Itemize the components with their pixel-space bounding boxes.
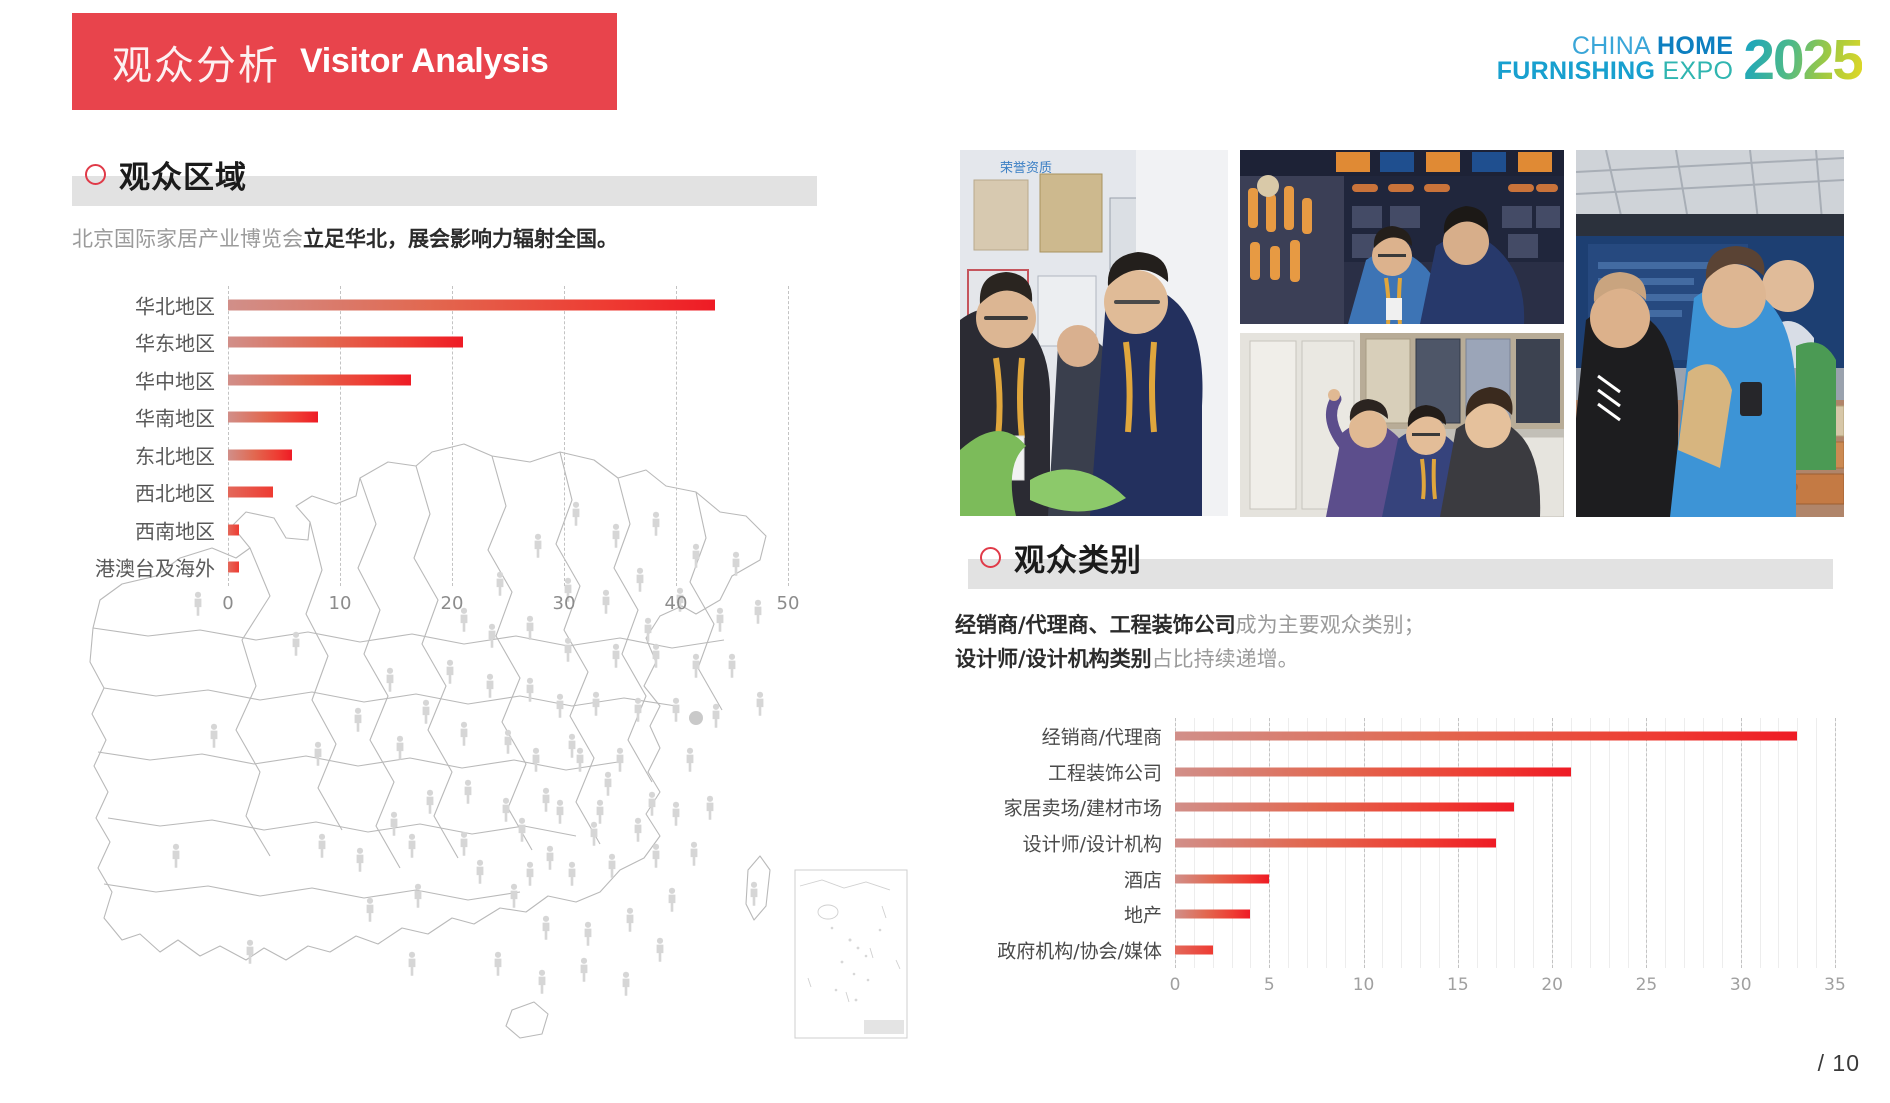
gridline-minor <box>1609 718 1610 968</box>
bar <box>1175 910 1250 919</box>
bar <box>228 562 239 573</box>
section-2-heading: 观众类别 <box>980 535 1142 580</box>
photo-4 <box>1576 150 1844 517</box>
category-label: 西北地区 <box>135 478 228 507</box>
section-1-desc-bold: 立足华北，展会影响力辐射全国。 <box>303 227 618 251</box>
ring-icon <box>85 164 106 185</box>
slide-title-en: Visitor Analysis <box>300 42 548 81</box>
slide-root: 观众分析 Visitor Analysis CHINA HOME FURNISH… <box>0 0 1890 1103</box>
bar <box>228 374 411 385</box>
bar <box>228 412 318 423</box>
bar <box>228 299 715 310</box>
gridline-minor <box>1571 718 1572 968</box>
gridline-minor <box>1628 718 1629 968</box>
logo-expo: EXPO <box>1663 57 1734 85</box>
x-tick-label: 20 <box>441 593 464 614</box>
logo-line-2: FURNISHING EXPO <box>1497 59 1733 84</box>
category-label: 酒店 <box>1124 865 1175 892</box>
category-label: 华东地区 <box>135 328 228 357</box>
gridline-minor <box>1665 718 1666 968</box>
photo-4-art <box>1576 150 1844 517</box>
section-1-title: 观众区域 <box>119 152 247 197</box>
gridline-major <box>1835 718 1836 968</box>
category-label: 西南地区 <box>135 515 228 544</box>
bar <box>1175 946 1213 955</box>
logo-line-1: CHINA HOME <box>1572 34 1733 59</box>
x-tick-label: 10 <box>329 593 352 614</box>
gridline-minor <box>1533 718 1534 968</box>
bar <box>1175 874 1269 883</box>
category-label: 政府机构/协会/媒体 <box>997 937 1175 964</box>
region-bar-chart: 01020304050华北地区华东地区华中地区华南地区东北地区西北地区西南地区港… <box>228 286 788 586</box>
category-label: 工程装饰公司 <box>1048 758 1175 785</box>
section-1-description: 北京国际家居产业博览会立足华北，展会影响力辐射全国。 <box>72 222 852 256</box>
gridline-minor <box>1496 718 1497 968</box>
s2-l1-plain: 成为主要观众类别； <box>1236 613 1425 637</box>
gridline-major <box>564 286 565 586</box>
s2-l1-bold: 经销商/代理商、工程装饰公司 <box>955 613 1236 637</box>
category-label: 家居卖场/建材市场 <box>1004 794 1175 821</box>
photo-1: 荣誉资质 <box>960 150 1228 516</box>
south-china-sea-inset <box>795 870 907 1038</box>
gridline-major <box>676 286 677 586</box>
gridline-minor <box>1722 718 1723 968</box>
page-number: / 10 <box>1818 1050 1860 1077</box>
x-tick-label: 0 <box>1170 975 1181 995</box>
x-tick-label: 30 <box>553 593 576 614</box>
bar <box>1175 803 1514 812</box>
section-1-heading: 观众区域 <box>85 152 247 197</box>
gridline-minor <box>1684 718 1685 968</box>
gridline-minor <box>1514 718 1515 968</box>
gridline-minor <box>1797 718 1798 968</box>
x-tick-label: 30 <box>1730 975 1752 995</box>
logo-year: 2025 <box>1743 37 1862 84</box>
x-tick-label: 40 <box>665 593 688 614</box>
category-label: 东北地区 <box>135 440 228 469</box>
section-2-desc-line-1: 经销商/代理商、工程装饰公司成为主要观众类别； <box>955 608 1855 642</box>
x-tick-label: 25 <box>1636 975 1658 995</box>
bar <box>1175 731 1797 740</box>
gridline-major <box>1552 718 1553 968</box>
category-label: 华南地区 <box>135 403 228 432</box>
gridline-minor <box>1778 718 1779 968</box>
category-label: 港澳台及海外 <box>95 553 228 582</box>
x-tick-label: 50 <box>777 593 800 614</box>
photo-3 <box>1240 333 1564 517</box>
photo-3-art <box>1240 333 1564 517</box>
gridline-minor <box>1703 718 1704 968</box>
category-label: 地产 <box>1124 901 1175 928</box>
category-label: 设计师/设计机构 <box>1023 830 1175 857</box>
x-tick-label: 20 <box>1541 975 1563 995</box>
photo-2 <box>1240 150 1564 324</box>
bar <box>228 524 239 535</box>
gridline-major <box>340 286 341 586</box>
s2-l2-plain: 占比持续递增。 <box>1152 647 1299 671</box>
bar <box>228 449 292 460</box>
bar <box>1175 767 1571 776</box>
section-2-description: 经销商/代理商、工程装饰公司成为主要观众类别； 设计师/设计机构类别占比持续递增… <box>955 608 1855 676</box>
logo-wordmark: CHINA HOME FURNISHING EXPO <box>1497 34 1733 84</box>
x-tick-label: 10 <box>1353 975 1375 995</box>
s2-l2-bold: 设计师/设计机构类别 <box>955 647 1152 671</box>
section-2-title: 观众类别 <box>1014 535 1142 580</box>
gridline-minor <box>1760 718 1761 968</box>
gridline-major <box>1741 718 1742 968</box>
x-tick-label: 35 <box>1824 975 1846 995</box>
ring-icon <box>980 547 1001 568</box>
gridline-major <box>452 286 453 586</box>
photo-2-art <box>1240 150 1564 324</box>
category-bar-chart: 05101520253035经销商/代理商工程装饰公司家居卖场/建材市场设计师/… <box>1175 718 1835 968</box>
x-tick-label: 0 <box>222 593 233 614</box>
category-label: 华北地区 <box>135 290 228 319</box>
region-chart-plot: 01020304050华北地区华东地区华中地区华南地区东北地区西北地区西南地区港… <box>228 286 788 586</box>
svg-text:荣誉资质: 荣誉资质 <box>1000 161 1052 176</box>
x-tick-label: 5 <box>1264 975 1275 995</box>
bar <box>228 487 273 498</box>
logo-furnishing: FURNISHING <box>1497 57 1663 85</box>
photo-1-art: 荣誉资质 <box>960 150 1228 516</box>
gridline-major <box>1646 718 1647 968</box>
section-2-desc-line-2: 设计师/设计机构类别占比持续递增。 <box>955 642 1855 676</box>
gridline-major <box>788 286 789 586</box>
expo-logo: CHINA HOME FURNISHING EXPO 2025 <box>1497 34 1862 84</box>
bar <box>1175 839 1496 848</box>
x-tick-label: 15 <box>1447 975 1469 995</box>
category-label: 经销商/代理商 <box>1042 722 1175 749</box>
category-chart-plot: 05101520253035经销商/代理商工程装饰公司家居卖场/建材市场设计师/… <box>1175 718 1835 968</box>
gridline-major <box>228 286 229 586</box>
slide-title-cn: 观众分析 <box>112 33 280 91</box>
slide-title-banner: 观众分析 Visitor Analysis <box>72 13 617 110</box>
gridline-minor <box>1590 718 1591 968</box>
bar <box>228 337 463 348</box>
section-1-desc-plain: 北京国际家居产业博览会 <box>72 227 303 251</box>
gridline-minor <box>1816 718 1817 968</box>
category-label: 华中地区 <box>135 365 228 394</box>
